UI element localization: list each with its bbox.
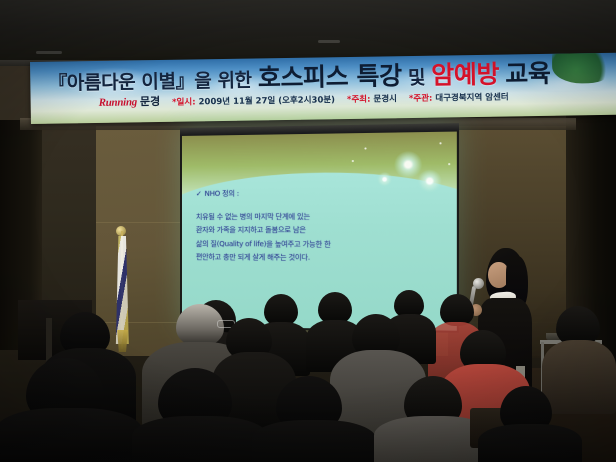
organizer-value: 대구경북지역 암센터 xyxy=(435,92,508,103)
ceiling-light-fixture xyxy=(36,51,62,54)
banner-date: *일시: 2009년 11월 27일 (오후2시30분) xyxy=(172,95,335,108)
audience xyxy=(0,290,616,462)
running-logo-text: Running xyxy=(99,96,137,109)
slide-line: 치유될 수 없는 병의 마지막 단계에 있는 xyxy=(196,210,448,224)
mungyeong-logo-text: 문경 xyxy=(140,95,160,108)
slide-text-block: ✓NHO 정의 : 치유될 수 없는 병의 마지막 단계에 있는 환자와 가족을… xyxy=(196,186,448,266)
banner-title-part-4: 암예방 xyxy=(431,60,499,90)
slide-heading: ✓NHO 정의 : xyxy=(196,186,448,201)
slide-line: 삶의 질(Quality of life)을 높여주고 가능한 한 xyxy=(196,238,448,253)
flower-icon xyxy=(394,151,422,178)
host-value: 문경시 xyxy=(373,94,397,104)
audience-body xyxy=(0,408,142,462)
sparkle-icon xyxy=(364,147,366,149)
slide-line: 환자와 가족을 지지하고 돌봄으로 남은 xyxy=(196,224,448,238)
photo-scene: 『아름다운 이별』을 위한 호스피스 특강 및 암예방 교육 Running문경… xyxy=(0,0,616,462)
slide-line: 편안하고 충만 되게 살게 해주는 것이다. xyxy=(196,251,448,266)
sparkle-icon xyxy=(439,142,441,144)
banner-title-part-3: 및 xyxy=(408,67,425,89)
date-value: 2009년 11월 27일 (오후2시30분) xyxy=(199,95,336,107)
audience-body xyxy=(542,340,616,414)
slide-heading-text: NHO 정의 : xyxy=(205,190,239,198)
checkmark-icon: ✓ xyxy=(196,190,202,198)
audience-body xyxy=(132,416,268,462)
sparkle-icon xyxy=(448,163,450,165)
microphone-icon xyxy=(473,278,484,289)
host-label: *주최: xyxy=(347,95,371,105)
flower-icon xyxy=(377,172,392,187)
organizer-label: *주관: xyxy=(409,94,433,104)
banner-title-part-1: 『아름다운 이별』을 위한 xyxy=(48,70,252,95)
banner-title-part-2: 호스피스 특강 xyxy=(258,61,402,92)
ceiling-light-fixture xyxy=(318,40,340,43)
banner-host: *주최: 문경시 xyxy=(347,94,397,105)
event-banner: 『아름다운 이별』을 위한 호스피스 특강 및 암예방 교육 Running문경… xyxy=(30,53,616,124)
sparkle-icon xyxy=(352,160,354,162)
banner-organizer: *주관: 대구경북지역 암센터 xyxy=(409,92,509,104)
date-label: *일시: xyxy=(172,97,196,107)
audience-body xyxy=(478,424,582,462)
audience-body xyxy=(252,420,376,462)
banner-title-part-5: 교육 xyxy=(505,59,551,89)
